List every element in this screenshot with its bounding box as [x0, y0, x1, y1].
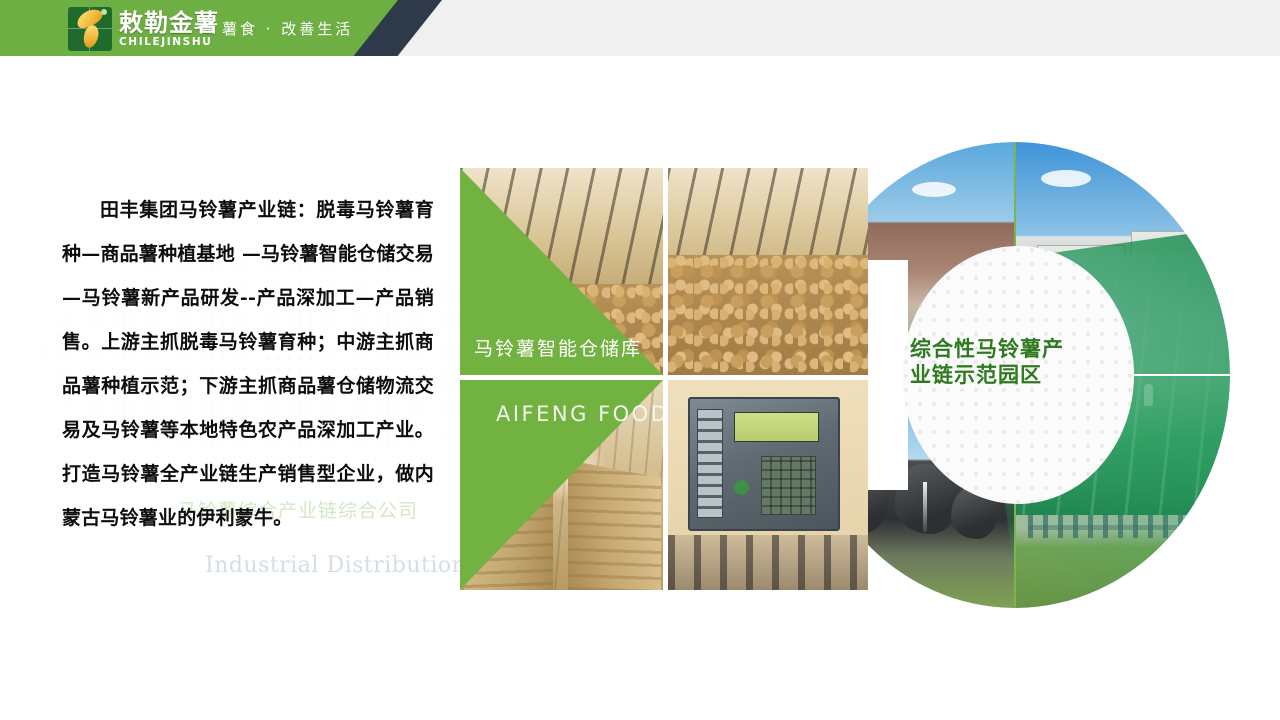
potato-pile-texture: [668, 255, 868, 375]
controller-housing: [688, 397, 840, 531]
controller-keypad: [761, 456, 816, 515]
controller-brand-icon: [734, 480, 749, 495]
workers-feet-texture: [668, 535, 868, 590]
sack-row-right: [568, 460, 661, 590]
storage-ceiling-photo: 马铃薯智能仓储库: [460, 168, 663, 375]
ring-center-label: 综合性马铃薯产业链示范园区: [910, 336, 1080, 388]
collage-label-cn: 马铃薯智能仓储库: [474, 334, 642, 361]
logo-name-cn: 敕勒金薯: [119, 11, 219, 35]
potato-pile-photo: [668, 168, 868, 375]
potato-logo-mark-icon: [68, 7, 112, 51]
body-paragraph: 田丰集团马铃薯产业链：脱毒马铃薯育种—商品薯种植基地 —马铃薯智能仓储交易—马铃…: [62, 188, 434, 540]
control-panel-photo: [668, 380, 868, 590]
worker-figure: [1144, 384, 1153, 406]
cloud-shape-icon: [912, 182, 956, 197]
header-tagline: 薯食 · 改善生活: [222, 18, 353, 39]
controller-display: [734, 412, 819, 443]
header-bottom-rule: [0, 56, 1280, 58]
sprout-dot-icon: [101, 9, 107, 15]
collage-gutter-horizontal: [460, 375, 868, 380]
watermark-english: Industrial Distribution: [205, 553, 466, 578]
collage-label-en: AIFENG FOOD: [496, 402, 663, 426]
slide-header: 敕勒金薯 CHILEJINSHU 薯食 · 改善生活: [0, 0, 1280, 58]
cloud-shape-icon: [1041, 170, 1091, 187]
logo-wordmark: 敕勒金薯 CHILEJINSHU: [119, 11, 219, 48]
controller-led-strip: [697, 409, 723, 518]
slide-canvas: 敕勒金薯 CHILEJINSHU 薯食 · 改善生活 马铃薯综合产业链综合公司 …: [0, 0, 1280, 720]
storage-corridor-photo: AIFENG FOOD: [460, 380, 663, 590]
logo-name-en: CHILEJINSHU: [119, 37, 219, 48]
brand-logo[interactable]: 敕勒金薯 CHILEJINSHU: [68, 6, 219, 52]
photo-collage: 马铃薯智能仓储库 AIFENG FOOD: [460, 168, 868, 590]
